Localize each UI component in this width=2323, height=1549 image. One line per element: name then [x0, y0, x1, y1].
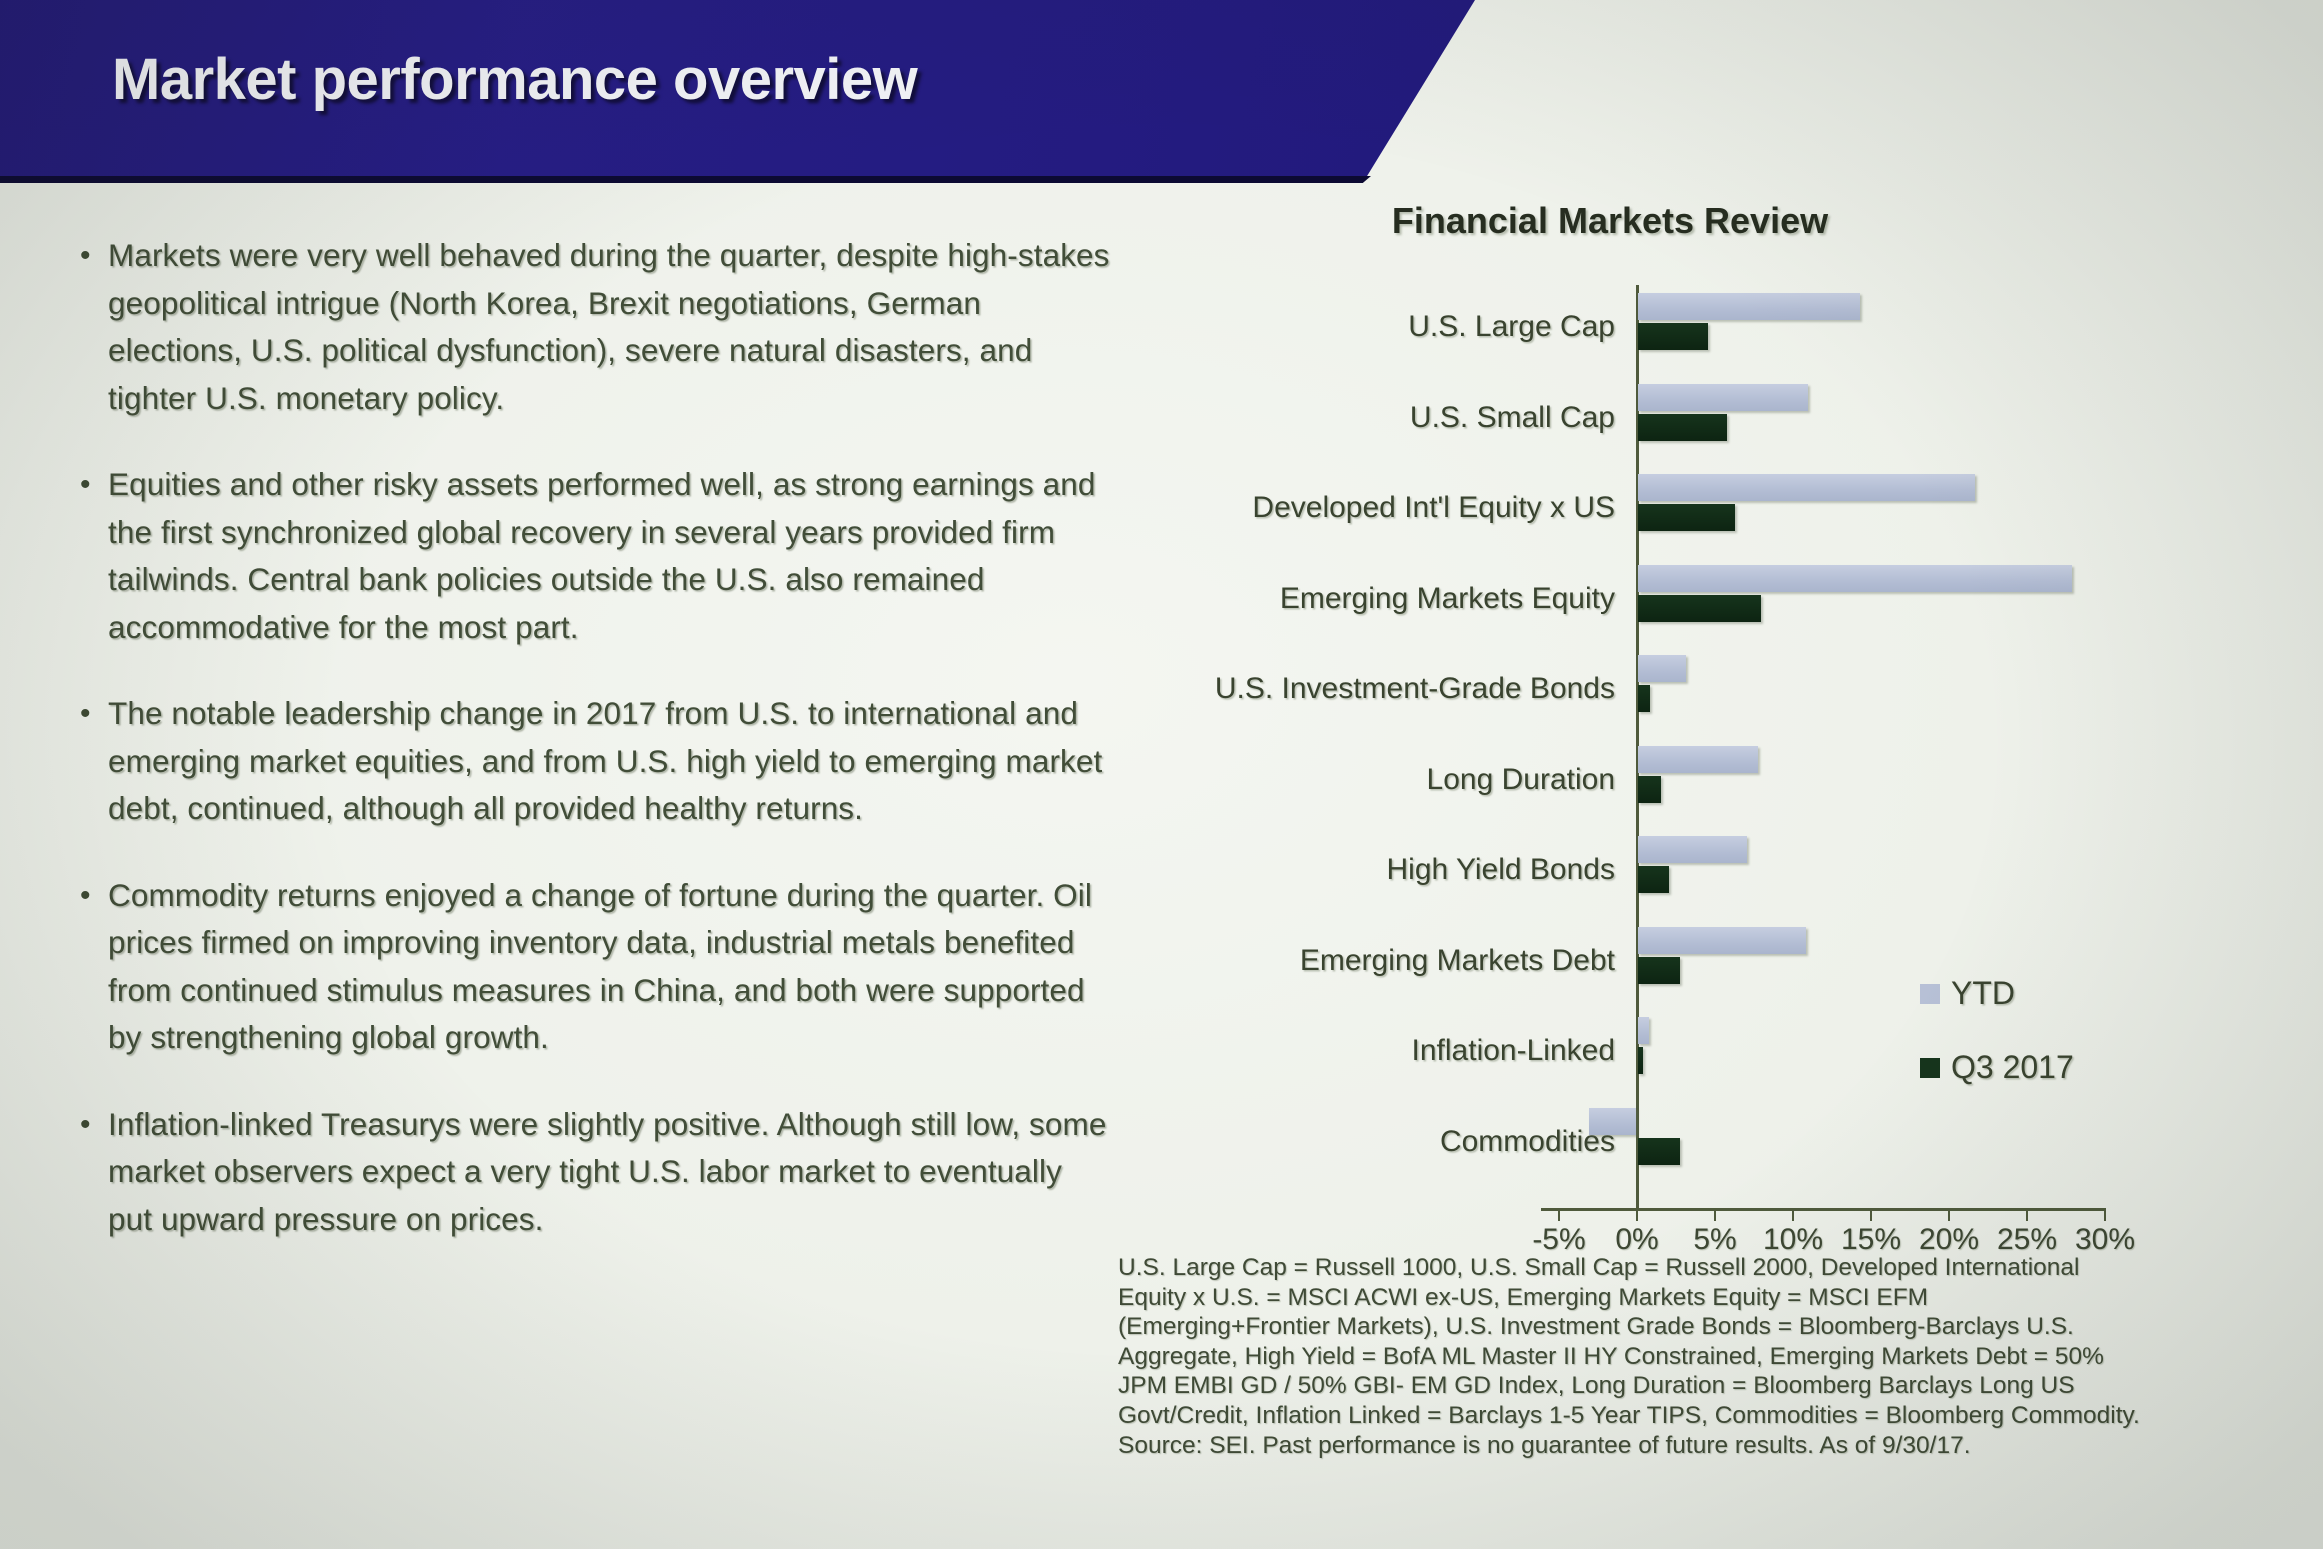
x-axis-tick [1714, 1208, 1716, 1221]
chart-category-label: Inflation-Linked [1105, 1034, 1615, 1068]
chart-category-label: High Yield Bonds [1105, 853, 1615, 887]
bullet-text: Commodity returns enjoyed a change of fo… [108, 872, 1113, 1062]
chart-bar-q3 [1638, 414, 1727, 441]
bullet-dot-icon: • [78, 232, 108, 422]
bar-chart-plot: YTDQ3 2017 -5%0%5%10%15%20%25%30%U.S. La… [1105, 285, 2285, 1220]
bullet-dot-icon: • [78, 461, 108, 651]
chart-bar-ytd [1638, 836, 1747, 863]
chart-bar-q3 [1638, 595, 1761, 622]
chart-bar-q3 [1638, 685, 1650, 712]
x-axis-tick-label: 15% [1841, 1223, 1901, 1257]
chart-category-label: Emerging Markets Debt [1105, 944, 1615, 978]
chart-bar-q3 [1638, 323, 1708, 350]
chart-bar-ytd [1638, 565, 2072, 592]
bullet-text: Inflation-linked Treasurys were slightly… [108, 1101, 1113, 1244]
bullet-text: Markets were very well behaved during th… [108, 232, 1113, 422]
chart-bar-ytd [1638, 746, 1758, 773]
x-axis-tick [1948, 1208, 1950, 1221]
footnote-line: U.S. Large Cap = Russell 1000, U.S. Smal… [1118, 1253, 2268, 1283]
chart-bar-q3 [1638, 1047, 1643, 1074]
chart-category-label: Developed Int'l Equity x US [1105, 491, 1615, 525]
chart-bar-ytd [1638, 384, 1808, 411]
footnote-line: Govt/Credit, Inflation Linked = Barclays… [1118, 1401, 2268, 1431]
x-axis-tick-label: 10% [1763, 1223, 1823, 1257]
footnote-line: Equity x U.S. = MSCI ACWI ex-US, Emergin… [1118, 1283, 2268, 1313]
chart-bar-ytd [1589, 1108, 1636, 1135]
bullet-dot-icon: • [78, 1101, 108, 1244]
footnote-line: JPM EMBI GD / 50% GBI- EM GD Index, Long… [1118, 1371, 2268, 1401]
legend-swatch-icon [1920, 1058, 1940, 1078]
x-axis-tick [1792, 1208, 1794, 1221]
bullet-text: Equities and other risky assets performe… [108, 461, 1113, 651]
bullet-item: •The notable leadership change in 2017 f… [78, 690, 1113, 833]
x-axis-tick [1870, 1208, 1872, 1221]
chart-title: Financial Markets Review [1105, 200, 2115, 242]
x-axis-tick [2104, 1208, 2106, 1221]
chart-category-label: Commodities [1105, 1125, 1615, 1159]
bullet-dot-icon: • [78, 690, 108, 833]
chart-category-label: U.S. Small Cap [1105, 401, 1615, 435]
chart-category-label: U.S. Investment-Grade Bonds [1105, 672, 1615, 706]
bullet-item: •Commodity returns enjoyed a change of f… [78, 872, 1113, 1062]
x-axis-tick-label: 20% [1919, 1223, 1979, 1257]
bullet-item: •Inflation-linked Treasurys were slightl… [78, 1101, 1113, 1244]
x-axis-tick-label: 25% [1997, 1223, 2057, 1257]
chart-bar-q3 [1638, 866, 1669, 893]
legend-label: YTD [1951, 975, 2015, 1012]
chart-panel: Financial Markets Review YTDQ3 2017 -5%0… [1105, 200, 2285, 1260]
footnote-line: (Emerging+Frontier Markets), U.S. Invest… [1118, 1312, 2268, 1342]
chart-bar-q3 [1638, 957, 1680, 984]
x-axis-tick [2026, 1208, 2028, 1221]
bullet-text: The notable leadership change in 2017 fr… [108, 690, 1113, 833]
bullet-list: •Markets were very well behaved during t… [78, 232, 1113, 1282]
x-axis-tick [1558, 1208, 1560, 1221]
x-axis-tick [1636, 1208, 1638, 1221]
footnote-line: Aggregate, High Yield = BofA ML Master I… [1118, 1342, 2268, 1372]
footnote-line: Source: SEI. Past performance is no guar… [1118, 1431, 2268, 1461]
legend-swatch-icon [1920, 984, 1940, 1004]
chart-bar-ytd [1638, 293, 1860, 320]
x-axis-tick-label: -5% [1532, 1223, 1585, 1257]
chart-bar-q3 [1638, 504, 1735, 531]
legend-label: Q3 2017 [1951, 1049, 2074, 1086]
x-axis-tick-label: 0% [1615, 1223, 1658, 1257]
chart-bar-ytd [1638, 1017, 1649, 1044]
chart-category-label: Long Duration [1105, 763, 1615, 797]
page-title: Market performance overview [112, 46, 917, 113]
chart-bar-ytd [1638, 927, 1806, 954]
chart-category-label: U.S. Large Cap [1105, 310, 1615, 344]
legend-item: Q3 2017 [1920, 1049, 2074, 1086]
chart-bar-q3 [1638, 776, 1661, 803]
chart-bar-q3 [1638, 1138, 1680, 1165]
x-axis-tick-label: 30% [2075, 1223, 2135, 1257]
bullet-item: •Equities and other risky assets perform… [78, 461, 1113, 651]
chart-bar-ytd [1638, 655, 1686, 682]
x-axis-tick-label: 5% [1693, 1223, 1736, 1257]
legend-item: YTD [1920, 975, 2074, 1012]
chart-bar-ytd [1638, 474, 1975, 501]
title-banner-underline [0, 176, 1371, 183]
chart-footnote: U.S. Large Cap = Russell 1000, U.S. Smal… [1118, 1253, 2268, 1460]
chart-category-label: Emerging Markets Equity [1105, 582, 1615, 616]
x-axis-line [1541, 1208, 2106, 1211]
bullet-dot-icon: • [78, 872, 108, 1062]
chart-legend: YTDQ3 2017 [1920, 975, 2074, 1123]
bullet-item: •Markets were very well behaved during t… [78, 232, 1113, 422]
